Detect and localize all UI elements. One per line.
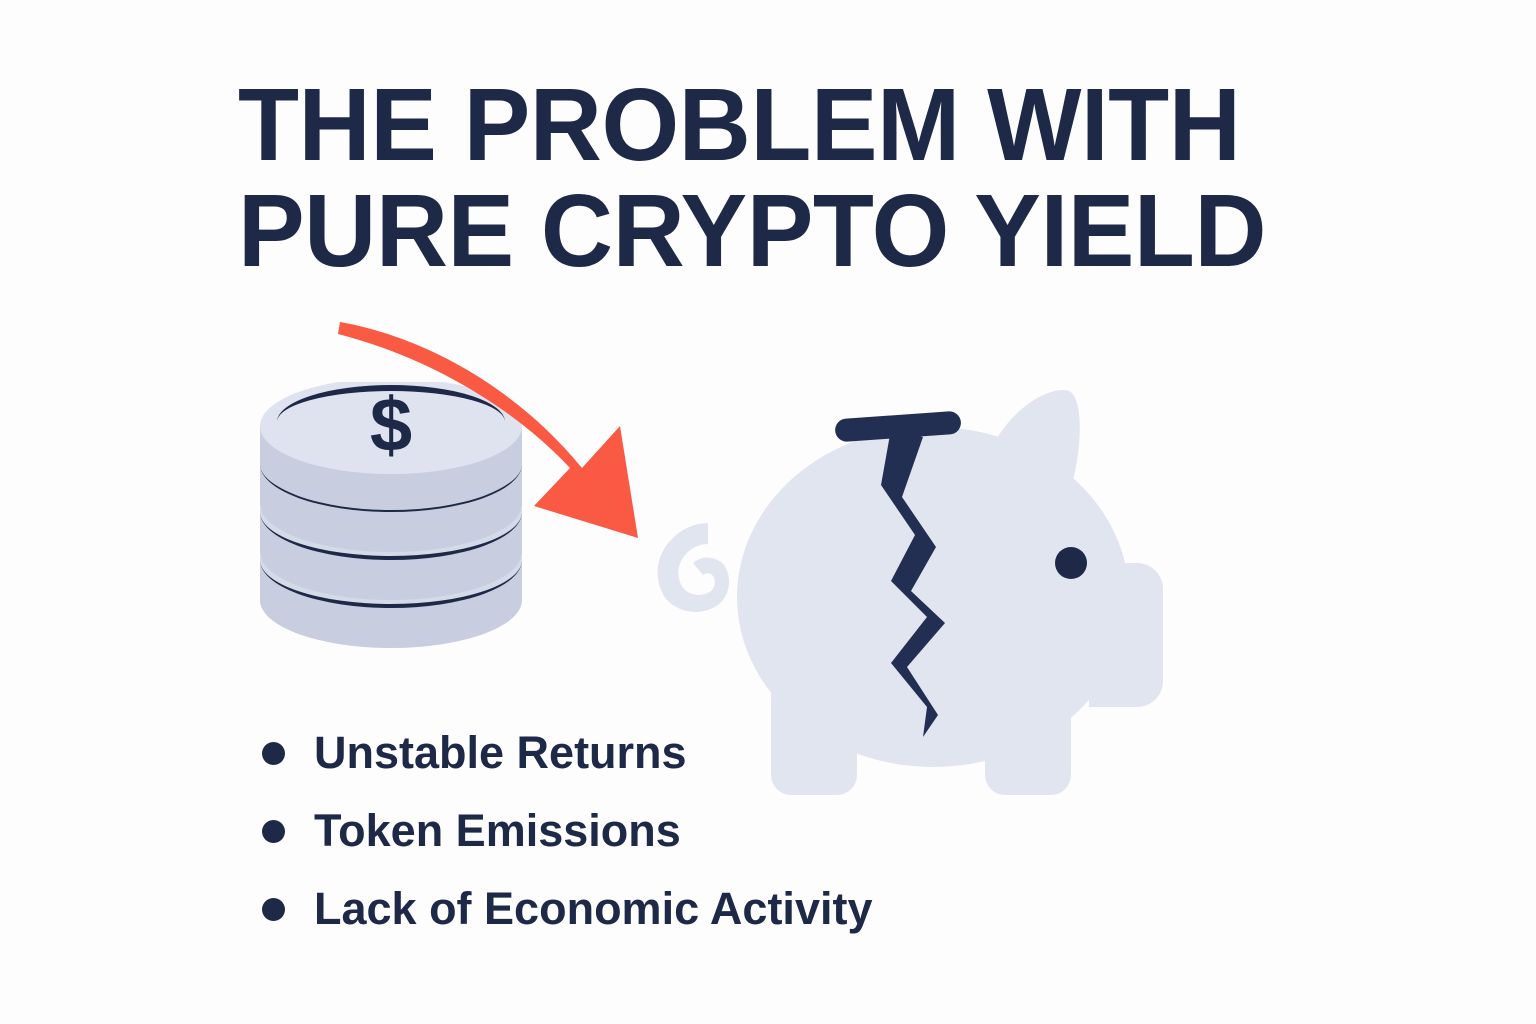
- bullet-dot-icon: [262, 898, 285, 921]
- bullet-label: Token Emissions: [314, 807, 681, 855]
- problem-bullet-list: Unstable Returns Token Emissions Lack of…: [262, 714, 962, 948]
- bullet-dot-icon: [262, 742, 285, 765]
- bullet-label: Lack of Economic Activity: [314, 885, 872, 933]
- title-line-1: THE PROBLEM WITH: [238, 72, 1324, 178]
- bullet-label: Unstable Returns: [314, 729, 687, 777]
- list-item: Token Emissions: [262, 792, 962, 870]
- piggy-tail: [658, 523, 730, 612]
- infographic-canvas: THE PROBLEM WITH PURE CRYPTO YIELD: [0, 0, 1536, 1024]
- page-title: THE PROBLEM WITH PURE CRYPTO YIELD: [238, 72, 1358, 284]
- piggy-eye: [1055, 547, 1087, 579]
- bullet-dot-icon: [262, 820, 285, 843]
- title-line-2: PURE CRYPTO YIELD: [238, 178, 1324, 284]
- list-item: Lack of Economic Activity: [262, 870, 962, 948]
- list-item: Unstable Returns: [262, 714, 962, 792]
